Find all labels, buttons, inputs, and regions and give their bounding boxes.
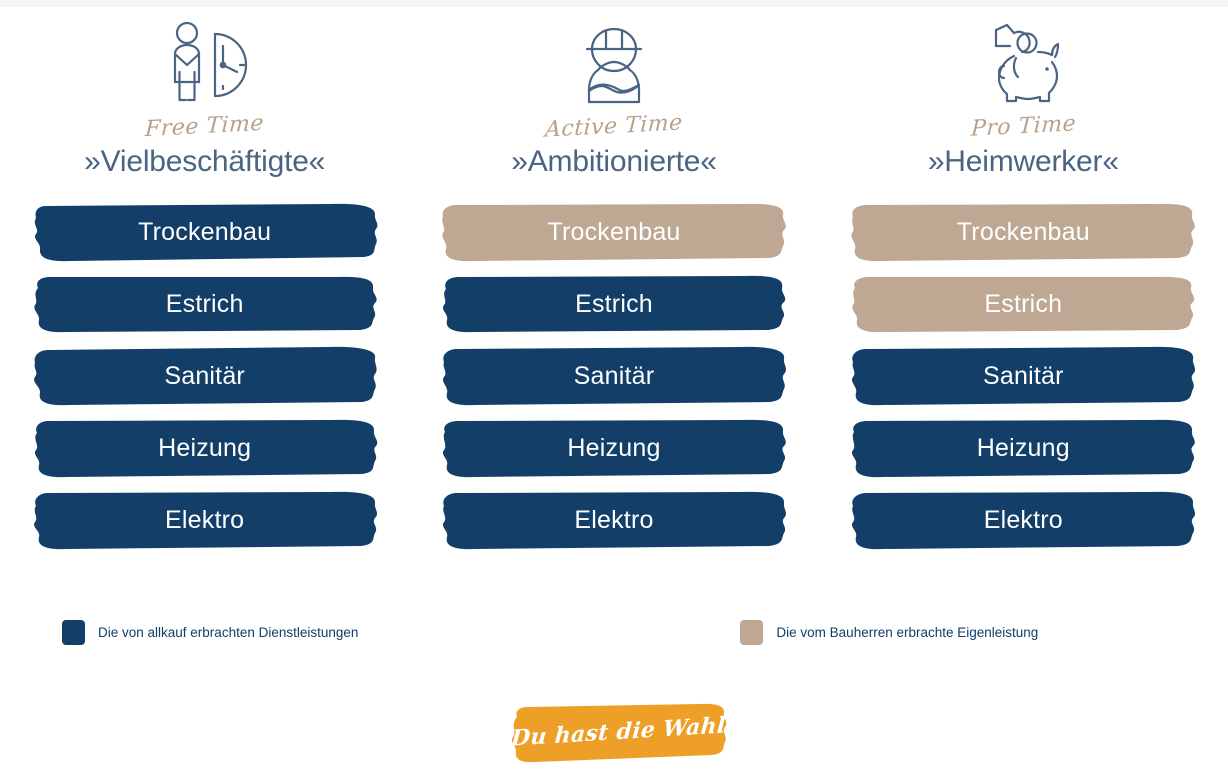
column-title: »Vielbeschäftigte« <box>84 145 325 179</box>
bar-label: Elektro <box>574 506 653 535</box>
bar-item[interactable]: Elektro <box>848 489 1198 551</box>
bars-list: Trockenbau Estrich Sanitär <box>409 201 818 561</box>
bar-item[interactable]: Heizung <box>439 417 789 479</box>
legend-item-self: Die vom Bauherren erbrachte Eigenleistun… <box>740 620 1038 645</box>
bar-item[interactable]: Trockenbau <box>439 201 789 263</box>
bar-item[interactable]: Sanitär <box>30 345 380 407</box>
bar-label: Estrich <box>984 290 1062 319</box>
legend-label: Die von allkauf erbrachten Dienstleistun… <box>98 625 358 640</box>
legend-label: Die vom Bauherren erbrachte Eigenleistun… <box>776 625 1038 640</box>
bar-label: Sanitär <box>574 362 655 391</box>
worker-helmet-icon <box>575 8 653 104</box>
column-title: »Ambitionierte« <box>511 145 716 179</box>
bar-item[interactable]: Heizung <box>848 417 1198 479</box>
legend-item-services: Die von allkauf erbrachten Dienstleistun… <box>62 620 358 645</box>
bar-item[interactable]: Sanitär <box>848 345 1198 407</box>
bars-list: Trockenbau Estrich Sanitär <box>0 201 409 561</box>
bar-label: Elektro <box>984 506 1063 535</box>
bar-item[interactable]: Estrich <box>848 273 1198 335</box>
bar-item[interactable]: Estrich <box>439 273 789 335</box>
bar-label: Sanitär <box>164 362 245 391</box>
bar-item[interactable]: Trockenbau <box>848 201 1198 263</box>
bar-item[interactable]: Sanitär <box>439 345 789 407</box>
bar-label: Sanitär <box>983 362 1064 391</box>
person-clock-icon <box>157 8 253 104</box>
column-script-label: Free Time <box>145 110 265 144</box>
bar-item[interactable]: Heizung <box>30 417 380 479</box>
bar-label: Heizung <box>567 434 660 463</box>
bar-label: Elektro <box>165 506 244 535</box>
bar-label: Estrich <box>166 290 244 319</box>
column-vielbeschaeftigte: Free Time »Vielbeschäftigte« Trockenbau … <box>0 8 409 561</box>
bar-item[interactable]: Estrich <box>30 273 380 335</box>
columns-container: Free Time »Vielbeschäftigte« Trockenbau … <box>0 8 1228 561</box>
bar-label: Estrich <box>575 290 653 319</box>
bar-item[interactable]: Elektro <box>30 489 380 551</box>
bar-label: Trockenbau <box>957 218 1090 247</box>
piggy-bank-icon <box>980 8 1066 104</box>
bar-label: Trockenbau <box>138 218 271 247</box>
bar-item[interactable]: Trockenbau <box>30 201 380 263</box>
column-script-label: Pro Time <box>970 110 1076 144</box>
column-ambitionierte: Active Time »Ambitionierte« Trockenbau E… <box>409 8 818 561</box>
bar-label: Heizung <box>158 434 251 463</box>
column-heimwerker: Pro Time »Heimwerker« Trockenbau Estrich <box>819 8 1228 561</box>
bar-item[interactable]: Elektro <box>439 489 789 551</box>
column-script-label: Active Time <box>545 109 684 144</box>
du-hast-die-wahl-badge: Du hast die Wahl <box>507 701 729 765</box>
comparison-graphic: Free Time »Vielbeschäftigte« Trockenbau … <box>0 0 1228 783</box>
bar-label: Trockenbau <box>547 218 680 247</box>
bar-label: Heizung <box>977 434 1070 463</box>
legend-swatch-navy <box>62 620 85 645</box>
legend-swatch-taupe <box>740 620 763 645</box>
legend: Die von allkauf erbrachten Dienstleistun… <box>62 620 1038 645</box>
bars-list: Trockenbau Estrich Sanitär <box>819 201 1228 561</box>
column-title: »Heimwerker« <box>928 145 1119 179</box>
